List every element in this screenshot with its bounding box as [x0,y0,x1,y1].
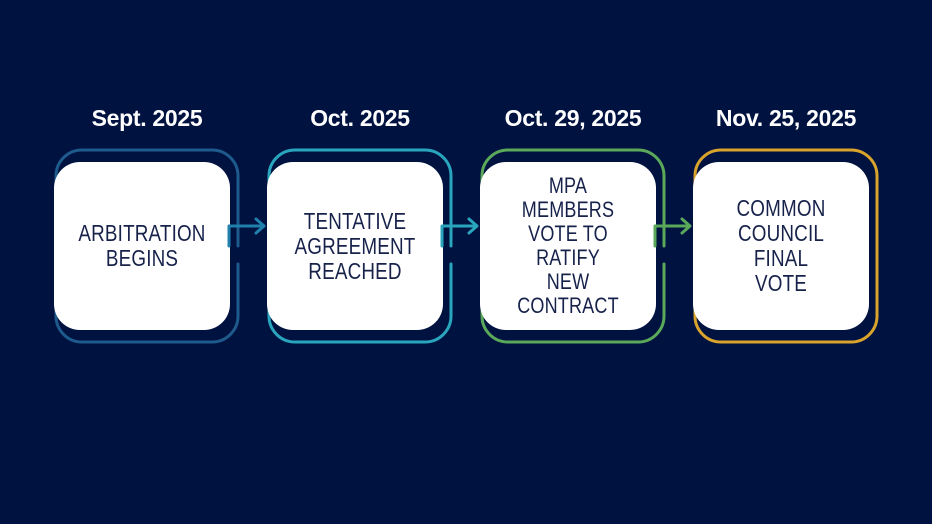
process-timeline: Sept. 2025 ARBITRATION BEGINS Oct. 2025 … [0,0,932,524]
step-date-label: Nov. 25, 2025 [681,104,891,132]
infographic-canvas: Sept. 2025 ARBITRATION BEGINS Oct. 2025 … [0,0,932,524]
step-card: TENTATIVE AGREEMENT REACHED [267,162,443,330]
step-card: MPA MEMBERS VOTE TO RATIFY NEW CONTRACT [480,162,656,330]
step-card-label: ARBITRATION BEGINS [76,221,207,271]
timeline-step-4: Nov. 25, 2025 COMMON COUNCIL FINAL VOTE [681,104,891,354]
step-card: ARBITRATION BEGINS [54,162,230,330]
step-card-label: TENTATIVE AGREEMENT REACHED [289,209,420,284]
step-card-label: MPA MEMBERS VOTE TO RATIFY NEW CONTRACT [502,174,633,318]
step-card: COMMON COUNCIL FINAL VOTE [693,162,869,330]
step-card-label: COMMON COUNCIL FINAL VOTE [715,196,846,296]
